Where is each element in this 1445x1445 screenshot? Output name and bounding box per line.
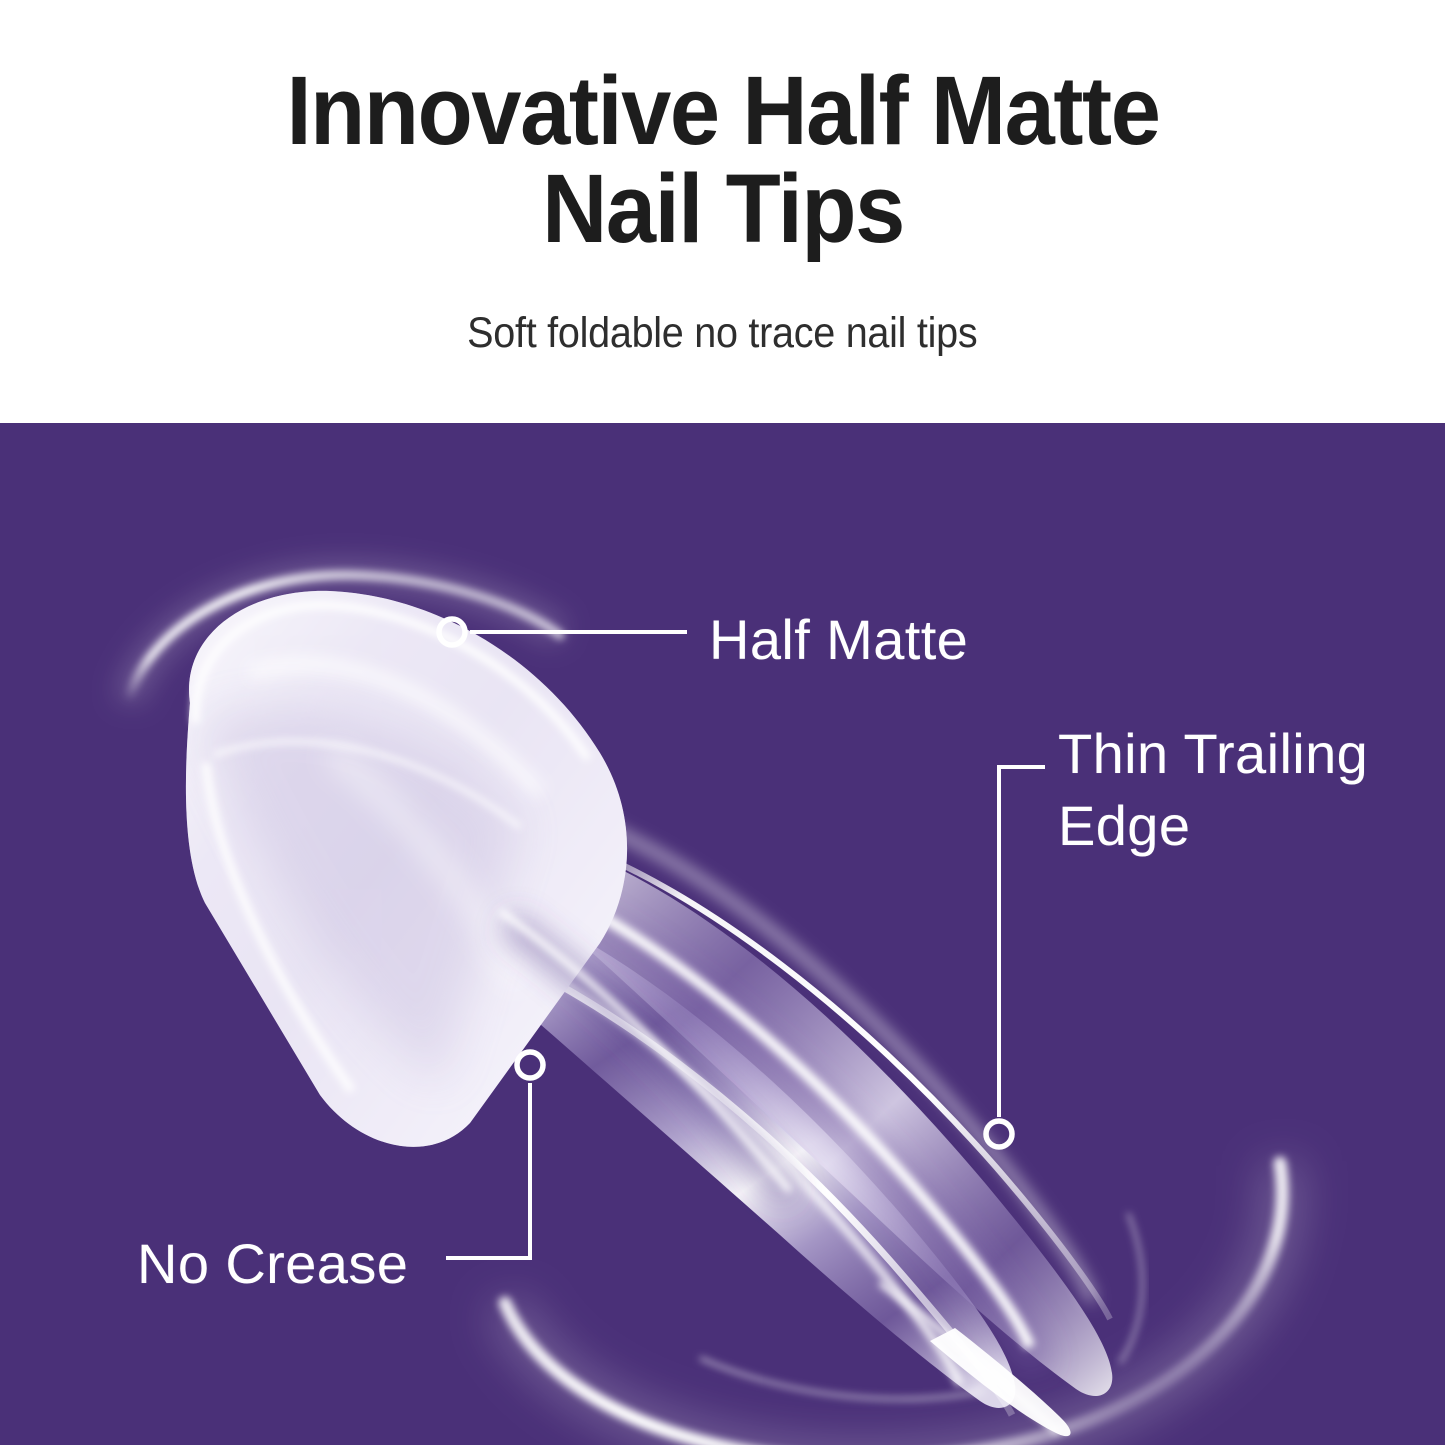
page-title-line-2: Nail Tips <box>542 154 904 263</box>
right-inner-glint <box>1120 1213 1142 1363</box>
header-section: Innovative Half MatteNail Tips Soft fold… <box>0 0 1445 423</box>
nail-matte-half <box>160 573 660 1173</box>
page-subtitle: Soft foldable no trace nail tips <box>467 258 977 358</box>
page-title-line-1: Innovative Half Matte <box>286 56 1159 165</box>
callout-label-no-crease: No Crease <box>137 1228 408 1300</box>
callout-label-thin-trailing-edge: Thin Trailing Edge <box>1058 718 1368 862</box>
infographic-page: Innovative Half MatteNail Tips Soft fold… <box>0 0 1445 1445</box>
callout-label-half-matte: Half Matte <box>709 604 968 676</box>
page-title: Innovative Half MatteNail Tips <box>174 62 1271 258</box>
